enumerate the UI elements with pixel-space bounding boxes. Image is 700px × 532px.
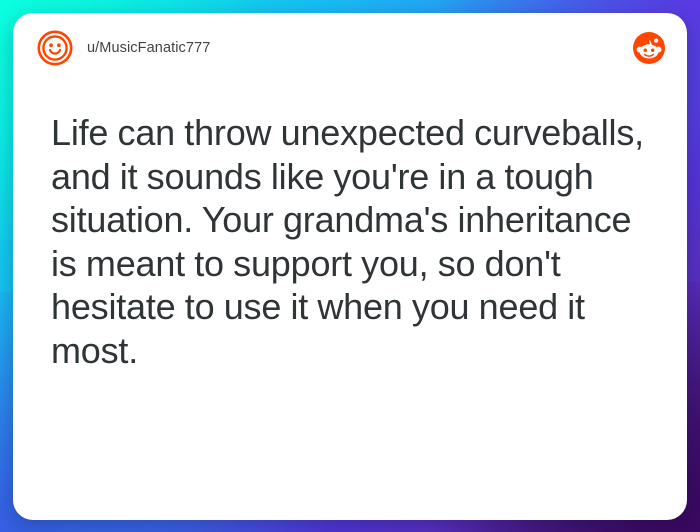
username-label: u/MusicFanatic777 bbox=[87, 40, 210, 56]
post-text: Life can throw unexpected curveballs, an… bbox=[51, 111, 649, 372]
screenshot-stage: u/MusicFanatic777 bbox=[0, 0, 700, 532]
post-body: Life can throw unexpected curveballs, an… bbox=[13, 83, 687, 372]
post-header: u/MusicFanatic777 bbox=[13, 13, 687, 83]
post-card: u/MusicFanatic777 bbox=[13, 13, 687, 520]
avatar[interactable] bbox=[37, 30, 73, 66]
reddit-snoo-icon bbox=[633, 32, 665, 64]
smiley-face-icon bbox=[37, 30, 73, 66]
